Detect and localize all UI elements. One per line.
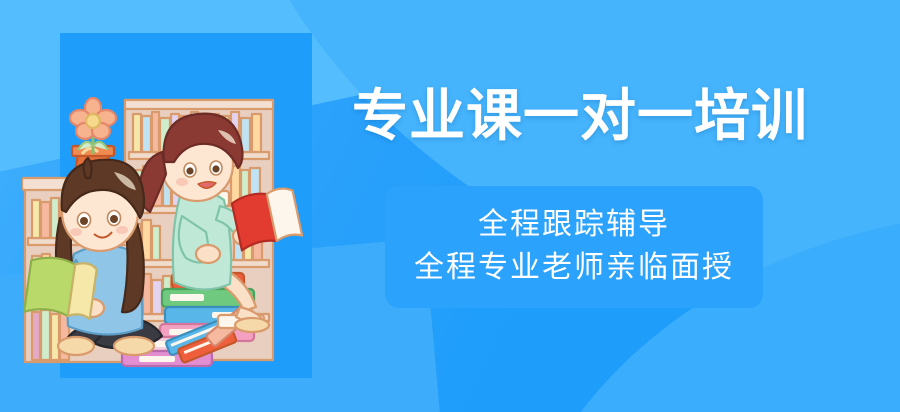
promo-banner: 专业课一对一培训 全程跟踪辅导 全程专业老师亲临面授 — [0, 0, 900, 412]
subtitle-line-1: 全程跟踪辅导 — [478, 204, 670, 247]
page-title: 专业课一对一培训 — [330, 88, 830, 144]
subtitle-line-2: 全程专业老师亲临面授 — [414, 247, 734, 290]
subtitle-box: 全程跟踪辅导 全程专业老师亲临面授 — [385, 186, 763, 308]
illustration-two-girls-reading — [22, 78, 352, 378]
